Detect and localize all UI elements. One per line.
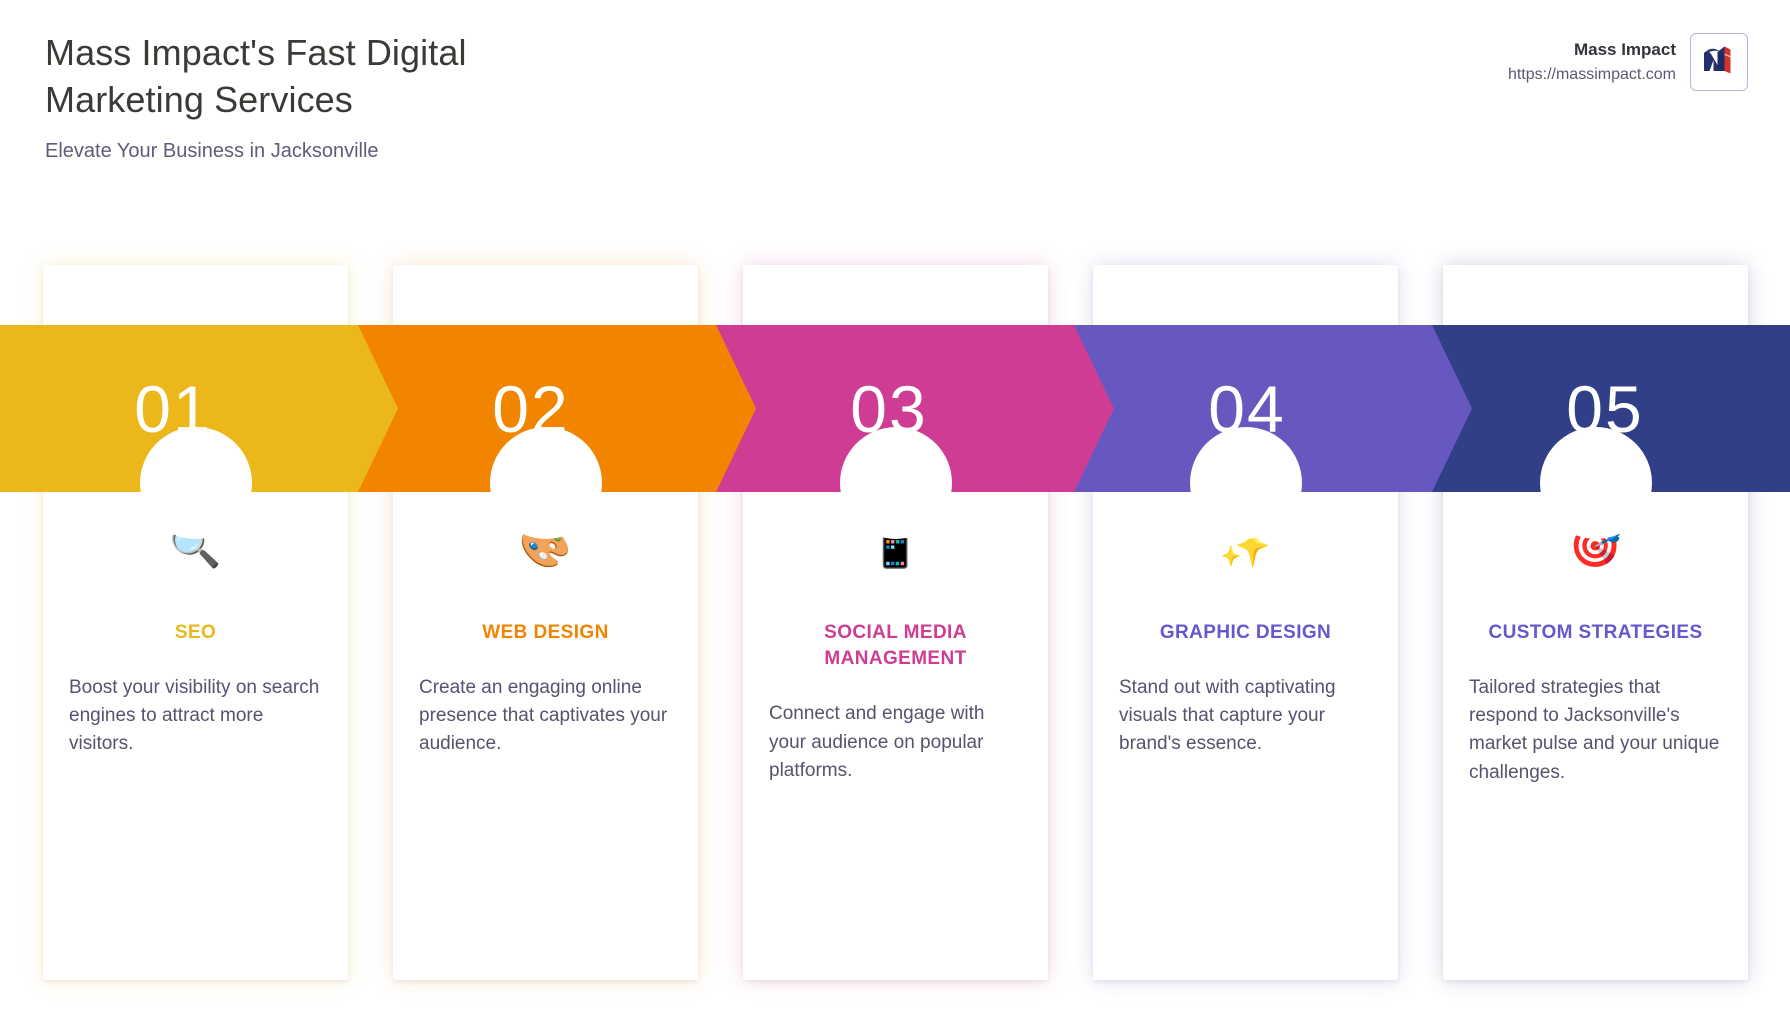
card-content: ✨GRAPHIC DESIGNStand out with captivatin… [1093, 520, 1398, 759]
card-notch [1540, 427, 1652, 539]
card-title: WEB DESIGN [419, 620, 672, 646]
card-title: GRAPHIC DESIGN [1119, 620, 1372, 646]
card-description: Stand out with captivating visuals that … [1119, 674, 1372, 758]
card-title: SEO [69, 620, 322, 646]
card-notch [840, 427, 952, 539]
card-description: Connect and engage with your audience on… [769, 700, 1022, 784]
card-content: 🎨WEB DESIGNCreate an engaging online pre… [393, 520, 698, 759]
card-notch [1190, 427, 1302, 539]
card-description: Boost your visibility on search engines … [69, 674, 322, 758]
card-content: 📱SOCIAL MEDIA MANAGEMENTConnect and enga… [743, 520, 1048, 785]
card-title: CUSTOM STRATEGIES [1469, 620, 1722, 646]
card-content: 🔍SEOBoost your visibility on search engi… [43, 520, 348, 759]
card-notch [490, 427, 602, 539]
card-description: Tailored strategies that respond to Jack… [1469, 674, 1722, 786]
card-title: SOCIAL MEDIA MANAGEMENT [769, 620, 1022, 672]
steps-strip: 🔍SEOBoost your visibility on search engi… [0, 0, 1790, 1024]
card-description: Create an engaging online presence that … [419, 674, 672, 758]
card-notch [140, 427, 252, 539]
card-content: 🎯CUSTOM STRATEGIESTailored strategies th… [1443, 520, 1748, 787]
